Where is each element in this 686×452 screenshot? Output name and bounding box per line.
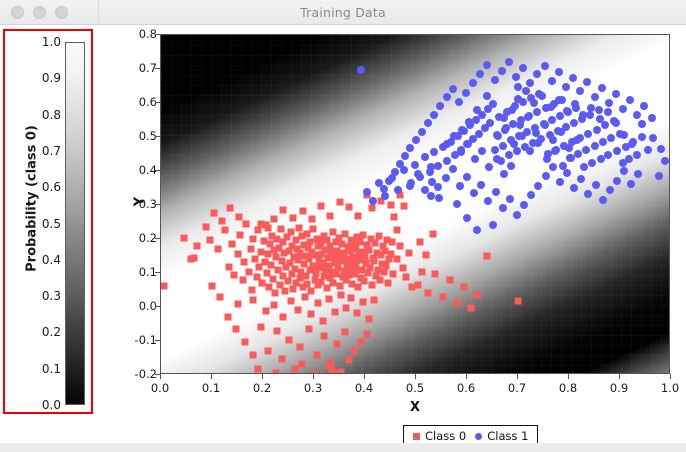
- scatter-point-class-0: [247, 246, 254, 253]
- scatter-point-class-0: [207, 237, 214, 244]
- legend-label-class-1: Class 1: [487, 429, 528, 443]
- scatter-point-class-1: [649, 134, 657, 142]
- scatter-point-class-1: [434, 183, 442, 191]
- scatter-point-class-0: [354, 284, 361, 291]
- scatter-point-class-1: [607, 134, 615, 142]
- scatter-point-class-1: [619, 105, 627, 113]
- scatter-point-class-0: [237, 231, 244, 238]
- scatter-point-class-0: [268, 261, 275, 268]
- scatter-point-class-0: [249, 351, 256, 358]
- scatter-point-class-1: [548, 116, 556, 124]
- scatter-point-class-0: [249, 296, 256, 303]
- colorbar-tick-0p4: 0.4: [42, 253, 61, 267]
- x-tickmark: [313, 374, 314, 379]
- scatter-point-class-1: [551, 147, 559, 155]
- scatter-point-class-1: [434, 162, 442, 170]
- scatter-point-class-1: [473, 226, 481, 234]
- scatter-point-class-0: [160, 282, 167, 289]
- scatter-point-class-1: [443, 140, 451, 148]
- scatter-point-class-0: [298, 361, 305, 368]
- scatter-point-class-0: [415, 282, 422, 289]
- scatter-point-class-0: [474, 292, 481, 299]
- scatter-point-class-0: [336, 198, 343, 205]
- scatter-point-class-1: [570, 184, 578, 192]
- scatter-point-class-1: [567, 154, 575, 162]
- scatter-point-class-0: [225, 313, 232, 320]
- scatter-point-class-0: [272, 290, 279, 297]
- scatter-point-class-1: [457, 148, 465, 156]
- scatter-point-class-0: [209, 282, 216, 289]
- scatter-point-class-1: [486, 119, 494, 127]
- window-bottom-bar: [0, 443, 686, 452]
- scatter-point-class-1: [500, 114, 508, 122]
- scatter-point-class-0: [399, 264, 406, 271]
- scatter-point-class-0: [439, 294, 446, 301]
- x-tick-0p2: 0.2: [242, 381, 282, 395]
- scatter-point-class-1: [519, 64, 527, 72]
- scatter-point-class-1: [391, 168, 399, 176]
- scatter-point-class-0: [305, 325, 312, 332]
- scatter-point-class-1: [369, 197, 377, 205]
- scatter-point-class-0: [360, 278, 367, 285]
- scatter-point-class-1: [380, 185, 388, 193]
- legend-marker-circle-icon: [475, 433, 482, 440]
- scatter-point-class-1: [543, 155, 551, 163]
- scatter-point-class-0: [181, 234, 188, 241]
- x-tickmark: [364, 374, 365, 379]
- scatter-point-class-1: [471, 155, 479, 163]
- scatter-point-class-1: [613, 147, 621, 155]
- scatter-point-class-1: [573, 136, 581, 144]
- scatter-point-class-0: [289, 214, 296, 221]
- scatter-point-class-1: [559, 162, 567, 170]
- colorbar-highlight-box: Probability (class 0) 1.00.90.80.70.60.5…: [3, 29, 93, 414]
- scatter-point-class-0: [243, 220, 250, 227]
- scatter-point-class-1: [449, 165, 457, 173]
- x-tick-0p8: 0.8: [548, 381, 588, 395]
- colorbar-tick-0p5: 0.5: [42, 217, 61, 231]
- scatter-point-class-0: [402, 274, 409, 281]
- scatter-point-class-1: [418, 128, 426, 136]
- scatter-point-class-1: [612, 90, 620, 98]
- scatter-point-class-1: [492, 188, 500, 196]
- scatter-point-class-0: [285, 336, 292, 343]
- scatter-point-class-0: [484, 253, 491, 260]
- scatter-point-class-1: [542, 172, 550, 180]
- scatter-point-class-1: [476, 70, 484, 78]
- scatter-point-class-0: [273, 369, 280, 374]
- scatter-point-class-0: [400, 203, 407, 210]
- scatter-point-class-1: [485, 163, 493, 171]
- scatter-point-class-0: [245, 268, 252, 275]
- legend-label-class-0: Class 0: [425, 429, 466, 443]
- scatter-point-class-1: [533, 108, 541, 116]
- scatter-point-class-0: [376, 233, 383, 240]
- scatter-point-class-1: [584, 130, 592, 138]
- scatter-point-class-1: [505, 151, 513, 159]
- y-tick-0p1: 0.1: [123, 265, 157, 279]
- y-tickmark: [155, 238, 160, 239]
- scatter-point-class-1: [428, 178, 436, 186]
- scatter-point-class-1: [407, 179, 415, 187]
- scatter-point-class-1: [453, 200, 461, 208]
- scatter-point-class-0: [453, 299, 460, 306]
- scatter-point-class-1: [583, 78, 591, 86]
- scatter-point-class-1: [587, 104, 595, 112]
- scatter-point-class-1: [579, 111, 587, 119]
- scatter-point-class-1: [605, 99, 613, 107]
- scatter-point-class-1: [385, 177, 393, 185]
- scatter-point-class-1: [638, 133, 646, 141]
- scatter-point-class-0: [393, 227, 400, 234]
- scatter-point-class-1: [555, 96, 563, 104]
- scatter-point-class-0: [239, 276, 246, 283]
- scatter-point-class-1: [620, 167, 628, 175]
- scatter-point-class-1: [556, 178, 564, 186]
- scatter-point-class-1: [620, 131, 628, 139]
- scatter-point-class-1: [598, 84, 606, 92]
- window-title: Training Data: [0, 0, 686, 25]
- scatter-point-class-1: [625, 155, 633, 163]
- scatter-point-class-1: [582, 146, 590, 154]
- scatter-point-class-0: [389, 271, 396, 278]
- scatter-point-class-0: [332, 309, 339, 316]
- scatter-point-class-0: [350, 348, 357, 355]
- scatter-point-class-0: [202, 223, 209, 230]
- scatter-point-class-1: [638, 120, 646, 128]
- scatter-point-class-1: [599, 138, 607, 146]
- scatter-point-class-0: [371, 297, 378, 304]
- scatter-point-class-0: [291, 365, 298, 372]
- scatter-point-class-1: [430, 111, 438, 119]
- x-tickmark: [568, 374, 569, 379]
- scatter-point-class-0: [284, 277, 291, 284]
- y-tick-0p8: 0.8: [123, 27, 157, 41]
- scatter-point-class-0: [233, 326, 240, 333]
- scatter-point-class-0: [334, 340, 341, 347]
- scatter-point-class-1: [406, 144, 414, 152]
- scatter-point-class-1: [518, 132, 526, 140]
- scatter-point-class-1: [604, 108, 612, 116]
- window-titlebar: Training Data: [0, 0, 686, 25]
- scatter-point-class-0: [430, 230, 437, 237]
- scatter-point-class-1: [606, 186, 614, 194]
- scatter-point-class-1: [644, 146, 652, 154]
- scatter-point-class-1: [489, 100, 497, 108]
- scatter-point-class-1: [541, 121, 549, 129]
- scatter-point-class-0: [354, 212, 361, 219]
- y-tickmark: [155, 272, 160, 273]
- scatter-point-class-1: [427, 192, 435, 200]
- scatter-point-class-0: [226, 263, 233, 270]
- scatter-point-class-0: [277, 226, 284, 233]
- scatter-point-class-1: [435, 194, 443, 202]
- scatter-point-class-1: [527, 191, 535, 199]
- scatter-point-class-0: [279, 355, 286, 362]
- scatter-point-class-0: [326, 295, 333, 302]
- scatter-point-class-0: [337, 292, 344, 299]
- scatter-point-class-0: [320, 318, 327, 325]
- scatter-point-class-1: [612, 119, 620, 127]
- scatter-point-class-1: [363, 188, 371, 196]
- scatter-point-class-1: [563, 169, 571, 177]
- scatter-point-class-1: [574, 150, 582, 158]
- scatter-point-class-1: [538, 92, 546, 100]
- scatter-point-class-1: [576, 87, 584, 95]
- scatter-point-class-1: [571, 100, 579, 108]
- scatter-point-class-0: [310, 226, 317, 233]
- scatter-point-class-1: [436, 102, 444, 110]
- scatter-point-class-0: [372, 240, 379, 247]
- scatter-point-class-1: [516, 121, 524, 129]
- legend-item-class-0[interactable]: Class 0: [413, 429, 466, 443]
- x-tickmark: [211, 374, 212, 379]
- scatter-point-class-0: [315, 299, 322, 306]
- scatter-point-class-0: [248, 286, 255, 293]
- scatter-point-class-1: [533, 70, 541, 78]
- scatter-point-class-0: [271, 301, 278, 308]
- scatter-point-class-1: [640, 102, 648, 110]
- scatter-point-class-0: [405, 250, 412, 257]
- scatter-point-class-1: [548, 77, 556, 85]
- scatter-point-class-0: [294, 306, 301, 313]
- scatter-point-class-1: [657, 145, 665, 153]
- colorbar-tick-0p2: 0.2: [42, 325, 61, 339]
- scatter-point-class-1: [396, 160, 404, 168]
- scatter-point-class-0: [295, 225, 302, 232]
- scatter-point-class-0: [432, 271, 439, 278]
- scatter-point-class-1: [412, 136, 420, 144]
- scatter-point-class-0: [446, 277, 453, 284]
- scatter-point-class-0: [254, 365, 261, 372]
- plot-container: 0.80.70.60.50.40.30.20.10.0-0.1-0.2 0.00…: [128, 29, 673, 394]
- scatter-point-class-1: [463, 173, 471, 181]
- scatter-point-class-1: [506, 195, 514, 203]
- scatter-point-class-1: [477, 181, 485, 189]
- scatter-point-class-0: [193, 242, 200, 249]
- x-tickmark: [262, 374, 263, 379]
- scatter-point-class-1: [483, 92, 491, 100]
- scatter-point-class-1: [469, 79, 477, 87]
- scatter-point-class-1: [502, 124, 510, 132]
- scatter-point-class-0: [274, 328, 281, 335]
- x-tickmark: [160, 374, 161, 379]
- scatter-point-class-1: [465, 118, 473, 126]
- colorbar-tick-1p0: 1.0: [42, 35, 61, 49]
- legend-marker-square-icon: [413, 433, 420, 440]
- scatter-point-class-0: [367, 264, 374, 271]
- scatter-point-class-0: [423, 252, 430, 259]
- x-tickmark: [466, 374, 467, 379]
- x-tickmark: [415, 374, 416, 379]
- scatter-point-class-1: [491, 76, 499, 84]
- scatter-point-class-0: [219, 218, 226, 225]
- scatter-point-class-1: [514, 83, 522, 91]
- x-tick-0p4: 0.4: [344, 381, 384, 395]
- scatter-point-class-1: [473, 106, 481, 114]
- scatter-point-class-1: [524, 113, 532, 121]
- scatter-point-class-1: [591, 142, 599, 150]
- scatter-point-class-1: [430, 148, 438, 156]
- scatter-point-class-0: [468, 305, 475, 312]
- scatter-point-class-1: [424, 119, 432, 127]
- scatter-point-class-1: [499, 204, 507, 212]
- y-tick-neg0p2: -0.2: [123, 367, 157, 381]
- scatter-point-class-0: [280, 206, 287, 213]
- x-tick-1p0: 1.0: [650, 381, 686, 395]
- scatter-point-class-1: [513, 147, 521, 155]
- scatter-point-class-0: [288, 297, 295, 304]
- scatter-point-class-0: [257, 221, 264, 228]
- scatter-point-class-0: [359, 298, 366, 305]
- scatter-point-class-0: [369, 204, 376, 211]
- scatter-point-class-1: [514, 95, 522, 103]
- scatter-point-class-0: [257, 324, 264, 331]
- x-tick-0p3: 0.3: [293, 381, 333, 395]
- scatter-point-class-0: [357, 338, 364, 345]
- scatter-point-class-1: [508, 106, 516, 114]
- scatter-point-class-1: [500, 170, 508, 178]
- scatter-point-class-0: [271, 216, 278, 223]
- scatter-point-class-1: [549, 136, 557, 144]
- scatter-point-class-0: [251, 256, 258, 263]
- scatter-point-class-1: [584, 190, 592, 198]
- scatter-point-class-1: [484, 197, 492, 205]
- scatter-point-class-1: [456, 182, 464, 190]
- scatter-point-class-0: [417, 238, 424, 245]
- scatter-point-class-1: [580, 163, 588, 171]
- scatter-point-class-1: [549, 163, 557, 171]
- scatter-point-class-0: [385, 280, 392, 287]
- scatter-point-class-0: [366, 246, 373, 253]
- scatter-point-class-0: [217, 293, 224, 300]
- colorbar-tick-0p6: 0.6: [42, 180, 61, 194]
- scatter-point-class-0: [230, 271, 237, 278]
- scatter-point-class-1: [547, 103, 555, 111]
- scatter-point-class-1: [532, 129, 540, 137]
- y-axis-label: Y: [133, 162, 148, 242]
- scatter-point-class-0: [228, 241, 235, 248]
- scatter-point-class-1: [427, 163, 435, 171]
- scatter-point-class-1: [661, 157, 669, 165]
- plot-axes: [160, 34, 670, 374]
- scatter-point-class-0: [318, 203, 325, 210]
- y-tickmark: [155, 170, 160, 171]
- scatter-point-class-0: [187, 255, 194, 262]
- scatter-point-class-1: [442, 174, 450, 182]
- scatter-point-class-0: [308, 311, 315, 318]
- scatter-point-class-1: [596, 115, 604, 123]
- scatter-point-class-1: [411, 161, 419, 169]
- scatter-point-class-1: [450, 132, 458, 140]
- x-tick-0p5: 0.5: [395, 381, 435, 395]
- y-tick-0p7: 0.7: [123, 61, 157, 75]
- colorbar-tick-labels: 1.00.90.80.70.60.50.40.30.20.10.0: [5, 31, 95, 416]
- scatter-point-class-1: [394, 186, 402, 194]
- scatter-point-class-1: [470, 189, 478, 197]
- scatter-point-class-0: [262, 308, 269, 315]
- scatter-point-class-1: [563, 107, 571, 115]
- scatter-point-class-0: [419, 268, 426, 275]
- scatter-point-class-1: [648, 114, 656, 122]
- scatter-point-class-1: [634, 170, 642, 178]
- scatter-point-class-0: [241, 258, 248, 265]
- y-tickmark: [155, 340, 160, 341]
- scatter-point-class-1: [421, 153, 429, 161]
- colorbar-tick-0p9: 0.9: [42, 71, 61, 85]
- scatter-point-class-0: [234, 300, 241, 307]
- scatter-point-class-0: [360, 231, 367, 238]
- legend-item-class-1[interactable]: Class 1: [475, 429, 528, 443]
- scatter-point-class-0: [366, 315, 373, 322]
- scatter-point-class-1: [530, 99, 538, 107]
- scatter-point-class-1: [522, 87, 530, 95]
- y-tickmark: [155, 136, 160, 137]
- scatter-point-class-1: [601, 121, 609, 129]
- scatter-point-class-0: [235, 250, 242, 257]
- scatter-point-class-0: [254, 227, 261, 234]
- scatter-point-class-0: [241, 339, 248, 346]
- scatter-point-class-1: [534, 139, 542, 147]
- x-tick-0p1: 0.1: [191, 381, 231, 395]
- y-tickmark: [155, 34, 160, 35]
- scatter-point-class-0: [296, 344, 303, 351]
- scatter-point-class-0: [354, 310, 361, 317]
- scatter-point-class-1: [628, 140, 636, 148]
- colorbar-tick-0p0: 0.0: [42, 398, 61, 412]
- colorbar-tick-0p7: 0.7: [42, 144, 61, 158]
- scatter-point-class-0: [364, 331, 371, 338]
- scatter-point-class-1: [449, 85, 457, 93]
- scatter-point-class-0: [362, 253, 369, 260]
- scatter-point-class-1: [443, 93, 451, 101]
- scatter-point-class-0: [282, 288, 289, 295]
- scatter-point-class-0: [335, 371, 342, 374]
- scatter-point-class-1: [507, 162, 515, 170]
- scatter-point-class-1: [421, 186, 429, 194]
- y-tick-0p0: 0.0: [123, 299, 157, 313]
- scatter-point-class-0: [393, 255, 400, 262]
- scatter-point-class-1: [520, 201, 528, 209]
- scatter-point-class-0: [460, 284, 467, 291]
- scatter-point-class-1: [499, 142, 507, 150]
- scatter-point-class-1: [541, 62, 549, 70]
- x-tick-0p6: 0.6: [446, 381, 486, 395]
- scatter-point-class-1: [462, 89, 470, 97]
- scatter-point-class-0: [383, 263, 390, 270]
- y-tickmark: [155, 68, 160, 69]
- scatter-point-class-0: [280, 314, 287, 321]
- scatter-point-class-0: [222, 227, 229, 234]
- scatter-point-class-1: [562, 83, 570, 91]
- x-tick-0p7: 0.7: [497, 381, 537, 395]
- scatter-point-class-1: [513, 211, 521, 219]
- scatter-point-class-1: [489, 221, 497, 229]
- scatter-point-class-0: [301, 293, 308, 300]
- scatter-point-class-0: [371, 258, 378, 265]
- scatter-point-class-0: [347, 295, 354, 302]
- colorbar-tick-0p8: 0.8: [42, 108, 61, 122]
- scatter-point-class-1: [458, 126, 466, 134]
- scatter-point-class-0: [287, 228, 294, 235]
- scatter-point-class-1: [555, 68, 563, 76]
- scatter-point-class-0: [369, 281, 376, 288]
- scatter-point-class-0: [299, 208, 306, 215]
- scatter-point-class-1: [526, 79, 534, 87]
- scatter-point-class-1: [443, 157, 451, 165]
- scatter-point-class-0: [265, 225, 272, 232]
- scatter-point-class-0: [387, 202, 394, 209]
